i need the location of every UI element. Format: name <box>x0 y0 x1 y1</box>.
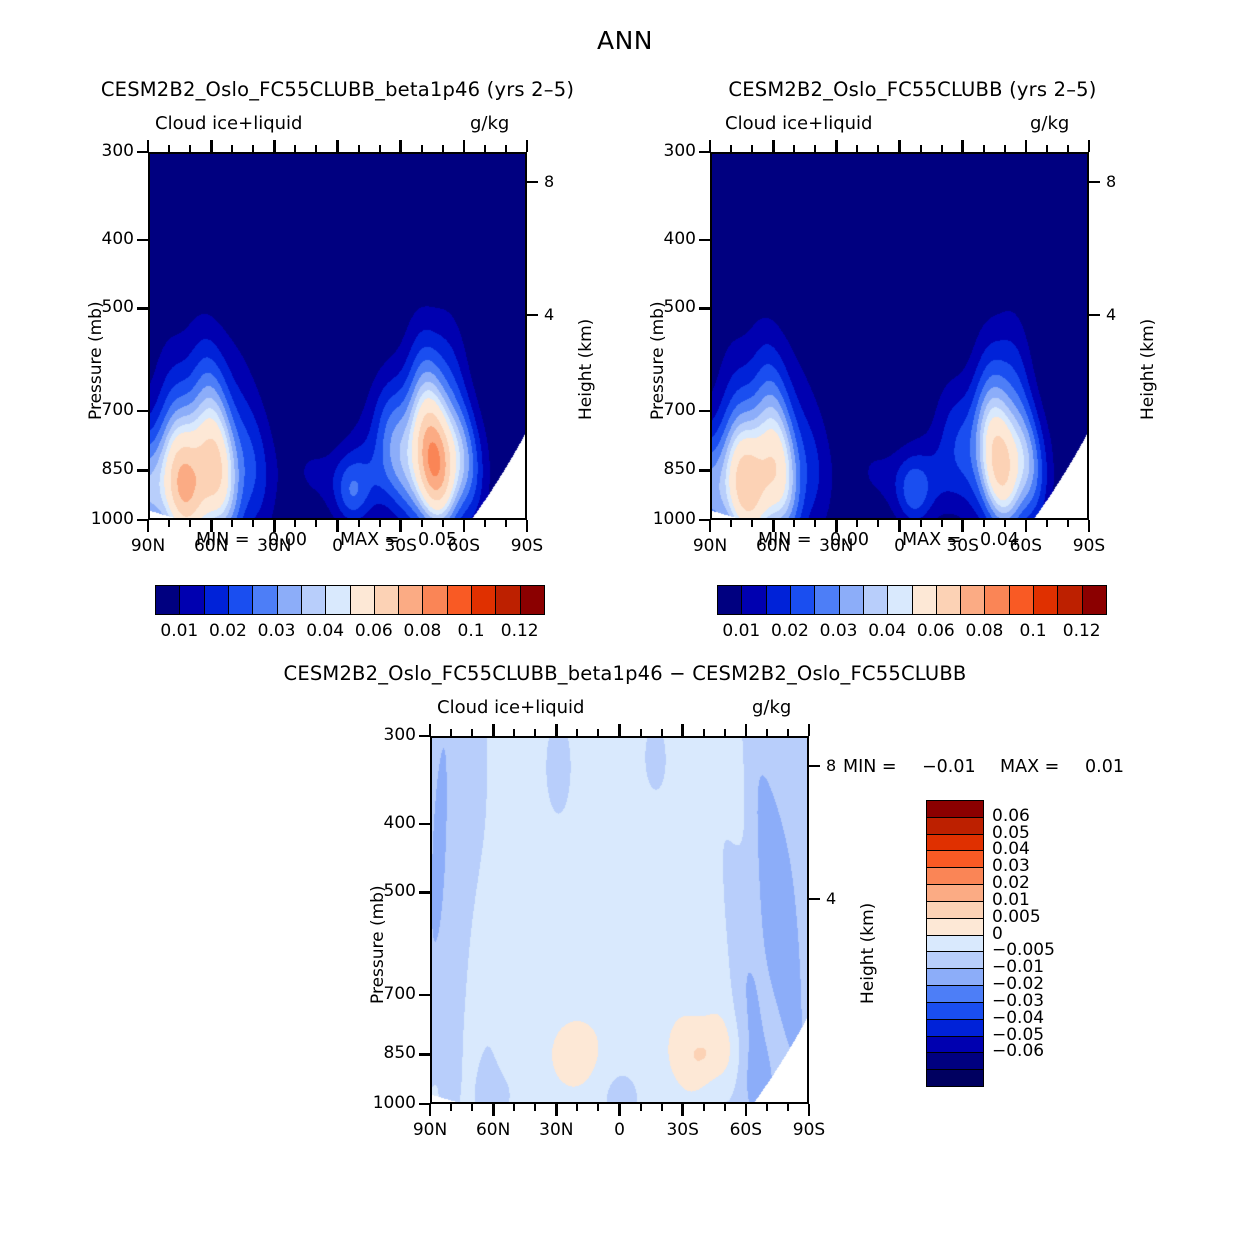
y2-tick-label: 4 <box>1106 305 1116 324</box>
x-top-minor-tick <box>724 729 726 736</box>
colorbar-cell[interactable] <box>926 834 984 852</box>
x-tick-mark <box>555 1104 558 1116</box>
x-top-minor-tick <box>315 145 317 152</box>
x-top-minor-tick <box>189 145 191 152</box>
x-minor-tick <box>442 520 444 527</box>
x-tick-label: 60S <box>710 1120 782 1140</box>
y-axis-label-control: Pressure (mb) <box>648 301 668 420</box>
x-tick-mark <box>463 520 466 532</box>
x-minor-tick <box>576 1104 578 1111</box>
x-top-tick-mark <box>709 140 712 152</box>
panel-title-test: CESM2B2_Oslo_FC55CLUBB_beta1p46 (yrs 2–5… <box>0 78 675 101</box>
max-value-test: 0.05 <box>418 530 457 550</box>
x-minor-tick <box>231 520 233 527</box>
x-tick-mark <box>709 520 712 532</box>
colorbar-cell[interactable] <box>1009 585 1035 615</box>
panel-title-difference: CESM2B2_Oslo_FC55CLUBB_beta1p46 − CESM2B… <box>0 662 1250 685</box>
x-top-minor-tick <box>1004 145 1006 152</box>
max-value-difference: 0.01 <box>1085 757 1124 777</box>
x-tick-mark <box>1088 520 1091 532</box>
x-minor-tick <box>252 520 254 527</box>
x-top-tick-mark <box>808 724 811 736</box>
x-top-minor-tick <box>703 729 705 736</box>
x-top-tick-mark <box>835 140 838 152</box>
y2-tick-mark <box>1089 314 1100 316</box>
x-top-minor-tick <box>505 145 507 152</box>
colorbar-test[interactable] <box>155 585 544 615</box>
colorbar-cell[interactable] <box>1033 585 1059 615</box>
y2-axis-label-test: Height (km) <box>576 319 596 420</box>
x-top-tick-mark <box>1025 140 1028 152</box>
colorbar-cell[interactable] <box>495 585 521 615</box>
x-tick-label: 30S <box>647 1120 719 1140</box>
x-minor-tick <box>189 520 191 527</box>
x-tick-mark <box>147 520 150 532</box>
x-minor-tick <box>484 520 486 527</box>
colorbar-cell[interactable] <box>887 585 913 615</box>
colorbar-cell[interactable] <box>984 585 1010 615</box>
x-tick-label: 90N <box>112 536 184 556</box>
x-minor-tick <box>751 520 753 527</box>
x-top-minor-tick <box>640 729 642 736</box>
colorbar-cell[interactable] <box>447 585 473 615</box>
colorbar-cell[interactable] <box>926 935 984 953</box>
max-label-test: MAX = <box>340 530 399 550</box>
variable-label-control: Cloud ice+liquid <box>725 113 872 134</box>
colorbar-cell[interactable] <box>790 585 816 615</box>
colorbar-cell[interactable] <box>520 585 546 615</box>
y-tick-mark <box>137 239 148 241</box>
x-top-minor-tick <box>941 145 943 152</box>
y-tick-mark <box>699 469 710 471</box>
x-top-tick-mark <box>399 140 402 152</box>
y-tick-label: 1000 <box>638 509 696 529</box>
x-minor-tick <box>168 520 170 527</box>
y-tick-mark <box>419 823 430 825</box>
x-tick-mark <box>745 1104 748 1116</box>
x-top-minor-tick <box>814 145 816 152</box>
x-minor-tick <box>941 520 943 527</box>
x-top-minor-tick <box>484 145 486 152</box>
x-top-minor-tick <box>534 729 536 736</box>
min-value-control: 0.00 <box>830 530 869 550</box>
min-label-control: MIN = <box>758 530 812 550</box>
y-tick-label: 300 <box>358 725 416 745</box>
x-minor-tick <box>505 520 507 527</box>
x-minor-tick <box>421 520 423 527</box>
x-top-minor-tick <box>766 729 768 736</box>
x-top-tick-mark <box>681 724 684 736</box>
x-top-minor-tick <box>730 145 732 152</box>
x-minor-tick <box>1004 520 1006 527</box>
y2-tick-mark <box>1089 181 1100 183</box>
max-label-control: MAX = <box>902 530 961 550</box>
x-minor-tick <box>1067 520 1069 527</box>
y-tick-mark <box>699 239 710 241</box>
x-minor-tick <box>597 1104 599 1111</box>
y-axis-label-difference: Pressure (mb) <box>368 885 388 1004</box>
y2-tick-label: 4 <box>826 889 836 908</box>
y-tick-mark <box>699 307 710 309</box>
x-top-tick-mark <box>898 140 901 152</box>
x-top-minor-tick <box>576 729 578 736</box>
x-minor-tick <box>793 520 795 527</box>
x-top-minor-tick <box>513 729 515 736</box>
x-tick-label: 30N <box>520 1120 592 1140</box>
y-tick-label: 850 <box>358 1043 416 1063</box>
x-top-minor-tick <box>787 729 789 736</box>
colorbar-cell[interactable] <box>374 585 400 615</box>
colorbar-cell[interactable] <box>926 1019 984 1037</box>
colorbar-cell[interactable] <box>912 585 938 615</box>
panel-title-control: CESM2B2_Oslo_FC55CLUBB (yrs 2–5) <box>575 78 1250 101</box>
plot-area-test[interactable] <box>148 152 527 520</box>
x-tick-label: 0 <box>584 1120 656 1140</box>
x-tick-mark <box>336 520 339 532</box>
x-tick-mark <box>429 1104 432 1116</box>
x-top-minor-tick <box>231 145 233 152</box>
colorbar-cell[interactable] <box>926 951 984 969</box>
y-tick-mark <box>419 994 430 996</box>
y2-tick-mark <box>809 765 820 767</box>
x-top-minor-tick <box>442 145 444 152</box>
x-top-tick-mark <box>492 724 495 736</box>
colorbar-cell[interactable] <box>926 1052 984 1070</box>
x-tick-mark <box>492 1104 495 1116</box>
colorbar-tick-label: −0.06 <box>992 1041 1084 1061</box>
x-minor-tick <box>315 520 317 527</box>
x-tick-mark <box>526 520 529 532</box>
x-top-minor-tick <box>1067 145 1069 152</box>
x-top-tick-mark <box>1088 140 1091 152</box>
y2-tick-label: 4 <box>544 305 554 324</box>
colorbar-cell[interactable] <box>926 1002 984 1020</box>
colorbar-cell[interactable] <box>926 1069 984 1087</box>
x-top-minor-tick <box>661 729 663 736</box>
y-axis-label-test: Pressure (mb) <box>86 301 106 420</box>
x-top-tick-mark <box>745 724 748 736</box>
y2-tick-label: 8 <box>544 172 554 191</box>
x-minor-tick <box>787 1104 789 1111</box>
colorbar-control[interactable] <box>717 585 1106 615</box>
colorbar-cell[interactable] <box>471 585 497 615</box>
colorbar-cell[interactable] <box>422 585 448 615</box>
colorbar-cell[interactable] <box>204 585 230 615</box>
y-tick-mark <box>699 410 710 412</box>
x-top-minor-tick <box>450 729 452 736</box>
x-minor-tick <box>724 1104 726 1111</box>
x-top-minor-tick <box>294 145 296 152</box>
colorbar-cell[interactable] <box>926 867 984 885</box>
colorbar-cell[interactable] <box>301 585 327 615</box>
colorbar-cell[interactable] <box>936 585 962 615</box>
x-minor-tick <box>814 520 816 527</box>
colorbar-cell[interactable] <box>926 817 984 835</box>
x-minor-tick <box>766 1104 768 1111</box>
colorbar-cell[interactable] <box>252 585 278 615</box>
x-minor-tick <box>661 1104 663 1111</box>
y-tick-label: 400 <box>358 813 416 833</box>
min-value-test: 0.00 <box>268 530 307 550</box>
min-value-difference: −0.01 <box>922 757 976 777</box>
colorbar-cell[interactable] <box>926 850 984 868</box>
x-top-minor-tick <box>856 145 858 152</box>
y-tick-label: 1000 <box>76 509 134 529</box>
x-top-tick-mark <box>526 140 529 152</box>
x-top-minor-tick <box>358 145 360 152</box>
x-tick-mark <box>618 1104 621 1116</box>
season-label: ANN <box>0 26 1250 55</box>
colorbar-cell[interactable] <box>350 585 376 615</box>
x-minor-tick <box>534 1104 536 1111</box>
x-tick-label: 90N <box>674 536 746 556</box>
x-top-minor-tick <box>597 729 599 736</box>
x-minor-tick <box>513 1104 515 1111</box>
x-tick-label: 60N <box>457 1120 529 1140</box>
colorbar-cell[interactable] <box>766 585 792 615</box>
colorbar-cell[interactable] <box>325 585 351 615</box>
y2-axis-label-control: Height (km) <box>1138 319 1158 420</box>
y-tick-mark <box>137 410 148 412</box>
x-top-tick-mark <box>618 724 621 736</box>
x-tick-label: 90N <box>394 1120 466 1140</box>
variable-label-test: Cloud ice+liquid <box>155 113 302 134</box>
colorbar-cell[interactable] <box>839 585 865 615</box>
colorbar-cell[interactable] <box>1057 585 1083 615</box>
x-top-minor-tick <box>983 145 985 152</box>
x-tick-label: 90S <box>1053 536 1125 556</box>
x-minor-tick <box>1046 520 1048 527</box>
x-minor-tick <box>877 520 879 527</box>
units-label-control: g/kg <box>1030 113 1069 134</box>
x-tick-label: 90S <box>491 536 563 556</box>
x-top-tick-mark <box>961 140 964 152</box>
x-top-minor-tick <box>920 145 922 152</box>
x-tick-mark <box>898 520 901 532</box>
y-tick-mark <box>137 469 148 471</box>
x-minor-tick <box>983 520 985 527</box>
x-top-minor-tick <box>877 145 879 152</box>
x-top-minor-tick <box>252 145 254 152</box>
x-top-tick-mark <box>772 140 775 152</box>
colorbar-cell[interactable] <box>926 918 984 936</box>
colorbar-cell[interactable] <box>277 585 303 615</box>
y-tick-mark <box>137 307 148 309</box>
colorbar-cell[interactable] <box>741 585 767 615</box>
variable-label-difference: Cloud ice+liquid <box>437 697 584 718</box>
min-label-test: MIN = <box>196 530 250 550</box>
colorbar-cell[interactable] <box>926 968 984 986</box>
colorbar-cell[interactable] <box>926 800 984 818</box>
y-tick-mark <box>419 891 430 893</box>
colorbar-cell[interactable] <box>1082 585 1108 615</box>
colorbar-cell[interactable] <box>960 585 986 615</box>
y-tick-label: 1000 <box>358 1093 416 1113</box>
y-tick-label: 400 <box>638 229 696 249</box>
x-minor-tick <box>920 520 922 527</box>
x-top-minor-tick <box>1046 145 1048 152</box>
colorbar-cell[interactable] <box>814 585 840 615</box>
units-label-difference: g/kg <box>752 697 791 718</box>
y2-tick-label: 8 <box>826 756 836 775</box>
colorbar-cell[interactable] <box>926 884 984 902</box>
y-tick-label: 850 <box>76 459 134 479</box>
colorbar-cell[interactable] <box>863 585 889 615</box>
x-minor-tick <box>471 1104 473 1111</box>
y2-axis-label-difference: Height (km) <box>858 903 878 1004</box>
colorbar-cell[interactable] <box>926 901 984 919</box>
min-label-difference: MIN = <box>843 757 897 777</box>
x-top-tick-mark <box>147 140 150 152</box>
colorbar-difference[interactable] <box>926 800 984 1086</box>
x-tick-mark <box>808 1104 811 1116</box>
y2-tick-mark <box>527 314 538 316</box>
x-top-minor-tick <box>379 145 381 152</box>
colorbar-cell[interactable] <box>155 585 181 615</box>
x-minor-tick <box>856 520 858 527</box>
x-top-tick-mark <box>273 140 276 152</box>
plot-area-difference[interactable] <box>430 736 809 1104</box>
colorbar-tick-label: 0.12 <box>1052 621 1112 641</box>
plot-area-control[interactable] <box>710 152 1089 520</box>
y-tick-label: 300 <box>638 141 696 161</box>
y2-tick-label: 8 <box>1106 172 1116 191</box>
units-label-test: g/kg <box>470 113 509 134</box>
x-top-minor-tick <box>471 729 473 736</box>
x-top-tick-mark <box>463 140 466 152</box>
y2-tick-mark <box>527 181 538 183</box>
x-tick-mark <box>961 520 964 532</box>
x-minor-tick <box>379 520 381 527</box>
y-tick-mark <box>419 1053 430 1055</box>
x-minor-tick <box>703 1104 705 1111</box>
colorbar-cell[interactable] <box>179 585 205 615</box>
y-tick-label: 300 <box>76 141 134 161</box>
x-top-minor-tick <box>793 145 795 152</box>
x-minor-tick <box>640 1104 642 1111</box>
colorbar-cell[interactable] <box>926 1036 984 1054</box>
max-value-control: 0.04 <box>980 530 1019 550</box>
y-tick-label: 400 <box>76 229 134 249</box>
x-top-tick-mark <box>210 140 213 152</box>
x-top-minor-tick <box>751 145 753 152</box>
x-minor-tick <box>358 520 360 527</box>
x-top-tick-mark <box>336 140 339 152</box>
colorbar-cell[interactable] <box>228 585 254 615</box>
x-tick-label: 90S <box>773 1120 845 1140</box>
x-tick-mark <box>399 520 402 532</box>
x-tick-mark <box>1025 520 1028 532</box>
max-label-difference: MAX = <box>1000 757 1059 777</box>
x-minor-tick <box>730 520 732 527</box>
x-top-tick-mark <box>555 724 558 736</box>
colorbar-cell[interactable] <box>717 585 743 615</box>
colorbar-cell[interactable] <box>398 585 424 615</box>
y2-tick-mark <box>809 898 820 900</box>
x-tick-mark <box>681 1104 684 1116</box>
x-top-minor-tick <box>421 145 423 152</box>
x-top-minor-tick <box>168 145 170 152</box>
x-top-tick-mark <box>429 724 432 736</box>
x-minor-tick <box>294 520 296 527</box>
x-minor-tick <box>450 1104 452 1111</box>
y-tick-label: 850 <box>638 459 696 479</box>
colorbar-tick-label: 0.12 <box>490 621 550 641</box>
colorbar-cell[interactable] <box>926 985 984 1003</box>
